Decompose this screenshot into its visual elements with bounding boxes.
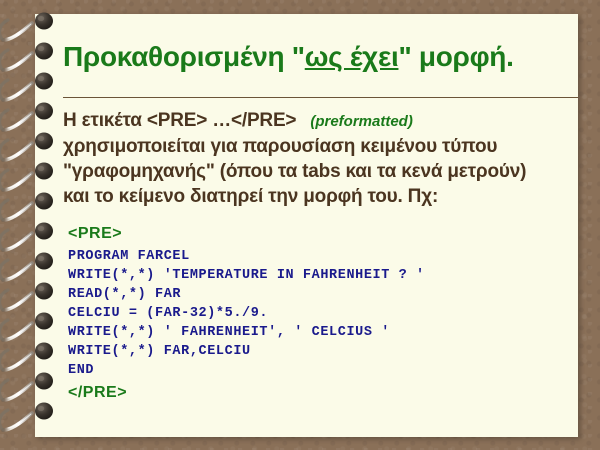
body-line-1: Η ετικέτα <PRE> …</PRE>(preformatted)	[63, 108, 583, 134]
body-line-4: και το κείμενο διατηρεί την μορφή του. Π…	[63, 184, 583, 209]
preformatted-annotation: (preformatted)	[310, 113, 413, 130]
code-line: READ(*,*) FAR	[68, 285, 568, 304]
code-line: WRITE(*,*) FAR,CELCIU	[68, 342, 568, 361]
title-part-2: " μορφή.	[398, 41, 513, 72]
code-sample: <PRE> PROGRAM FARCEL WRITE(*,*) 'TEMPERA…	[68, 224, 568, 403]
code-line: WRITE(*,*) ' FAHRENHEIT', ' CELCIUS '	[68, 323, 568, 342]
body-line-1-text: Η ετικέτα <PRE> …</PRE>	[63, 110, 296, 131]
body-line-3: "γραφομηχανής" (όπου τα tabs και τα κενά…	[63, 159, 583, 184]
code-line: PROGRAM FARCEL	[68, 247, 568, 266]
code-line: CELCIU = (FAR-32)*5./9.	[68, 304, 568, 323]
title-underlined-phrase: ως έχει	[305, 41, 399, 72]
title-divider	[63, 97, 578, 98]
code-line: WRITE(*,*) 'TEMPERATURE IN FAHRENHEIT ? …	[68, 266, 568, 285]
slide-canvas: Προκαθορισμένη "ως έχει" μορφή. Η ετικέτ…	[0, 0, 600, 450]
page-title: Προκαθορισμένη "ως έχει" μορφή.	[63, 42, 579, 73]
pre-close-tag: </PRE>	[68, 383, 568, 403]
body-line-2: χρησιμοποιείται για παρουσίαση κειμένου …	[63, 134, 583, 159]
code-line: END	[68, 361, 568, 380]
title-part-1: Προκαθορισμένη "	[63, 41, 305, 72]
slide-title: Προκαθορισμένη "ως έχει" μορφή.	[63, 42, 579, 73]
body-paragraph: Η ετικέτα <PRE> …</PRE>(preformatted) χρ…	[63, 108, 583, 209]
pre-open-tag: <PRE>	[68, 224, 568, 244]
